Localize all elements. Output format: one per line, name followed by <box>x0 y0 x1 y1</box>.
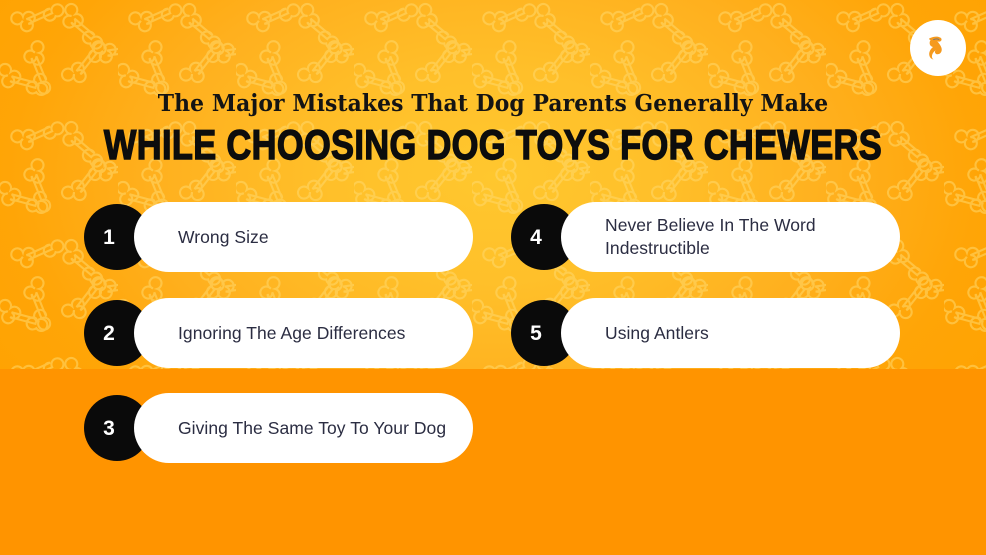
card-label: Wrong Size <box>134 226 291 249</box>
card-label: Never Believe In The Word Indestructible <box>561 214 900 260</box>
card-label: Using Antlers <box>561 322 731 345</box>
badge-number: 5 <box>530 323 542 344</box>
page-title: WHILE CHOOSING DOG TOYS FOR CHEWERS <box>89 119 898 171</box>
card-label: Giving The Same Toy To Your Dog <box>134 417 468 440</box>
badge-number: 4 <box>530 227 542 248</box>
list-item[interactable]: 1 Wrong Size <box>84 202 473 272</box>
card-pill[interactable]: Ignoring The Age Differences <box>134 298 473 368</box>
card-pill[interactable]: Using Antlers <box>561 298 900 368</box>
card-pill[interactable]: Never Believe In The Word Indestructible <box>561 202 900 272</box>
list-item[interactable]: 2 Ignoring The Age Differences <box>84 298 473 368</box>
infographic-canvas: The Major Mistakes That Dog Parents Gene… <box>0 0 986 555</box>
dog-silhouette-icon <box>921 31 955 65</box>
badge-number: 2 <box>103 323 115 344</box>
heading-block: The Major Mistakes That Dog Parents Gene… <box>0 88 986 171</box>
list-item[interactable]: 5 Using Antlers <box>511 298 900 368</box>
card-pill[interactable]: Wrong Size <box>134 202 473 272</box>
brand-logo[interactable] <box>910 20 966 76</box>
list-item[interactable]: 3 Giving The Same Toy To Your Dog <box>84 393 473 463</box>
subtitle-text: The Major Mistakes That Dog Parents Gene… <box>35 88 952 118</box>
card-label: Ignoring The Age Differences <box>134 322 427 345</box>
badge-number: 1 <box>103 227 115 248</box>
mistake-cards-grid: 1 Wrong Size 2 Ignoring The Age Differen… <box>0 0 986 555</box>
list-item[interactable]: 4 Never Believe In The Word Indestructib… <box>511 202 900 272</box>
card-pill[interactable]: Giving The Same Toy To Your Dog <box>134 393 473 463</box>
badge-number: 3 <box>103 418 115 439</box>
